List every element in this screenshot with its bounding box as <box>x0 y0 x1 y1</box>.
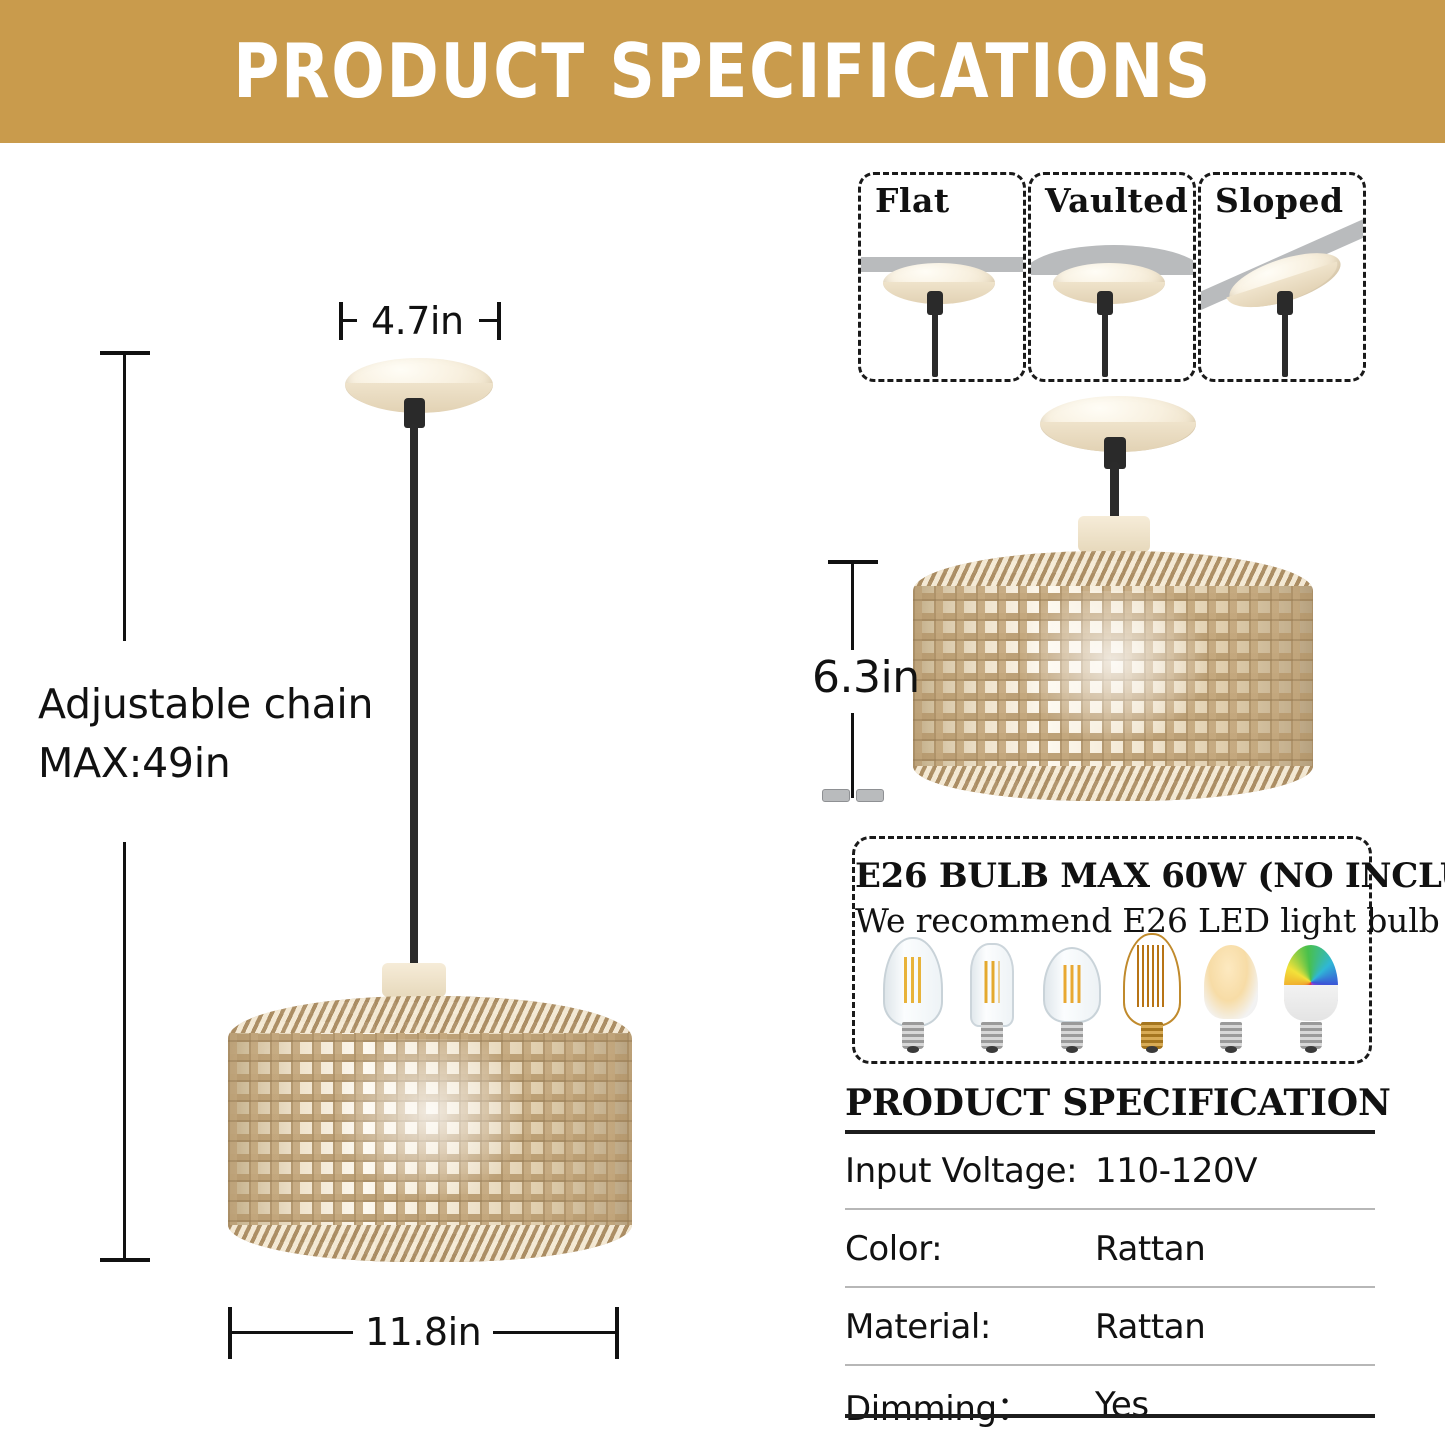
spec-value-color: Rattan <box>1095 1229 1205 1269</box>
st64-clear-filament-bulb <box>880 937 946 1049</box>
socket-housing <box>382 963 446 997</box>
spec-value-material: Rattan <box>1095 1307 1205 1347</box>
width-dim-right-cap <box>497 302 501 340</box>
hanging-cord <box>410 424 418 969</box>
header-banner: PRODUCT SPECIFICATIONS <box>0 0 1445 143</box>
canopy-width-label: 4.7in <box>371 299 464 343</box>
height-dim-lower-line <box>851 713 854 795</box>
height-dim-bottom-marker-right <box>856 789 884 802</box>
spec-rule-3 <box>845 1364 1375 1366</box>
height-dim-bottom-marker-left <box>822 789 850 802</box>
adjustable-chain-label: Adjustable chain MAX:49in <box>38 675 373 794</box>
ceiling-type-sloped: Sloped <box>1198 172 1366 382</box>
width-dim-right-tick <box>479 319 497 322</box>
ceiling-type-vaulted: Vaulted <box>1028 172 1196 382</box>
diameter-dim-left-line <box>228 1331 353 1334</box>
right-shade-bottom-band <box>913 766 1313 801</box>
right-cord <box>1110 462 1119 524</box>
right-rattan-drum-shade <box>913 551 1313 801</box>
spec-value-input-voltage: 110-120V <box>1095 1151 1257 1191</box>
right-shade-interior-glow <box>1017 591 1209 746</box>
chain-dim-line <box>123 351 126 641</box>
bulb-recommendation-box: E26 BULB MAX 60W (NO INCLUDED) We recomm… <box>852 836 1372 1064</box>
lower-dim-line <box>123 842 126 1262</box>
shade-interior-glow <box>333 1039 527 1204</box>
ceiling-type-vaulted-label: Vaulted <box>1045 181 1188 220</box>
spec-rule-bottom <box>845 1414 1375 1418</box>
spec-key-material: Material: <box>845 1307 1095 1347</box>
lower-dim-bottom-cap <box>100 1258 150 1262</box>
ceiling-type-flat-label: Flat <box>875 181 950 220</box>
spec-key-input-voltage: Input Voltage: <box>845 1151 1095 1191</box>
spec-key-color: Color: <box>845 1229 1095 1269</box>
product-specification-infographic: PRODUCT SPECIFICATIONS 4.7in Adjustable … <box>0 0 1445 1419</box>
diameter-dim-right-line <box>493 1331 617 1334</box>
spec-row-material: Material: Rattan <box>845 1290 1375 1364</box>
spec-row-color: Color: Rattan <box>845 1212 1375 1286</box>
spec-row-input-voltage: Input Voltage: 110-120V <box>845 1134 1375 1208</box>
a19-frosted-warm-bulb <box>1198 937 1264 1049</box>
a19-rgb-smart-bulb <box>1278 937 1344 1049</box>
adjustable-chain-line2: MAX:49in <box>38 739 230 787</box>
ceiling-type-flat: Flat <box>858 172 1026 382</box>
a19-clear-filament-bulb <box>1039 937 1105 1049</box>
shade-top-band <box>228 996 632 1033</box>
t45-tubular-filament-bulb <box>959 937 1025 1049</box>
st64-amber-vintage-bulb <box>1119 937 1185 1049</box>
width-dim-left-tick <box>339 319 357 322</box>
bulb-type-row <box>873 939 1351 1049</box>
adjustable-chain-line1: Adjustable chain <box>38 680 373 728</box>
right-shade-top-band <box>913 551 1313 586</box>
shade-diameter-label: 11.8in <box>365 1310 481 1354</box>
height-dim-bottom-tick <box>851 784 854 798</box>
bulb-box-subheading: We recommend E26 LED light bulb <box>855 901 1369 940</box>
spec-row-dimming: Dimming： Yes <box>845 1368 1375 1442</box>
right-socket-housing <box>1078 516 1150 552</box>
height-dim-upper-line <box>851 560 854 650</box>
spec-rule-2 <box>845 1286 1375 1288</box>
page-title: PRODUCT SPECIFICATIONS <box>233 34 1212 109</box>
shade-height-label: 6.3in <box>812 652 920 703</box>
spec-rule-1 <box>845 1208 1375 1210</box>
bulb-box-heading: E26 BULB MAX 60W (NO INCLUDED) <box>855 856 1369 896</box>
rattan-drum-shade <box>228 996 632 1262</box>
spec-key-dimming: Dimming： <box>845 1381 1095 1430</box>
spec-value-dimming: Yes <box>1095 1385 1149 1425</box>
shade-bottom-band <box>228 1225 632 1262</box>
spec-table: Input Voltage: 110-120V Color: Rattan Ma… <box>845 1130 1375 1420</box>
ceiling-type-sloped-label: Sloped <box>1215 181 1344 220</box>
spec-table-title: PRODUCT SPECIFICATION <box>845 1082 1391 1124</box>
